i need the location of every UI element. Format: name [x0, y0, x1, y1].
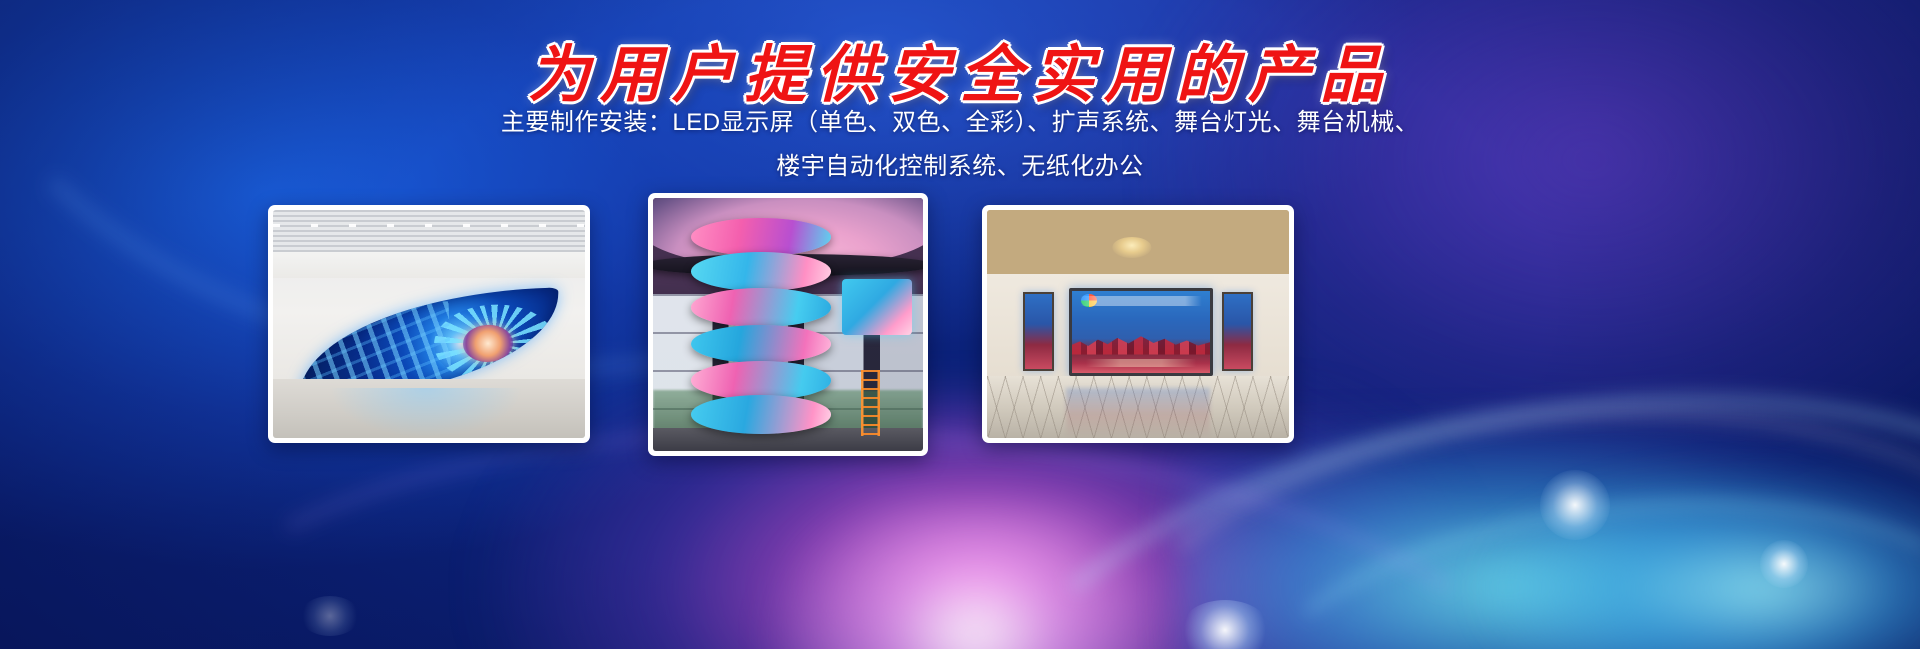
eye-shaped-led-display-image — [273, 210, 585, 438]
spiral-band-6 — [691, 395, 831, 434]
spiral-band-4 — [691, 325, 831, 364]
left-vertical-led-panel — [1023, 292, 1054, 371]
promo-banner: 为用户提供安全实用的产品 主要制作安装：LED显示屏（单色、双色、全彩）、扩声系… — [0, 0, 1920, 649]
led-pixel-blocks — [302, 302, 452, 391]
spiral-band-5 — [691, 361, 831, 400]
ceiling-slats — [273, 210, 585, 254]
floor-reflection — [329, 388, 522, 438]
spiral-band-2 — [691, 252, 831, 291]
spiral-band-3 — [691, 288, 831, 327]
photo-gallery — [0, 0, 1920, 649]
right-vertical-led-panel — [1222, 292, 1253, 371]
gallery-photo-card-1[interactable] — [268, 205, 590, 443]
main-stage-led-screen — [1069, 288, 1214, 376]
ceiling-soffit — [273, 252, 585, 278]
step-ladder — [861, 370, 880, 436]
spiral-led-ribbon-display-image — [653, 198, 923, 451]
spiral-band-1 — [691, 218, 831, 257]
conference-hall-led-screen-image — [987, 210, 1289, 438]
spiral-led-ribbon — [691, 213, 831, 441]
side-led-panel — [842, 279, 912, 335]
screen-title-text — [1072, 296, 1211, 306]
gallery-photo-card-3[interactable] — [982, 205, 1294, 443]
screen-footer-band — [1072, 359, 1211, 366]
gallery-photo-card-2[interactable] — [648, 193, 928, 456]
screen-skyline-graphic — [1072, 333, 1211, 354]
screen-floor-reflection — [1066, 388, 1211, 438]
chandelier-light — [1112, 237, 1151, 258]
